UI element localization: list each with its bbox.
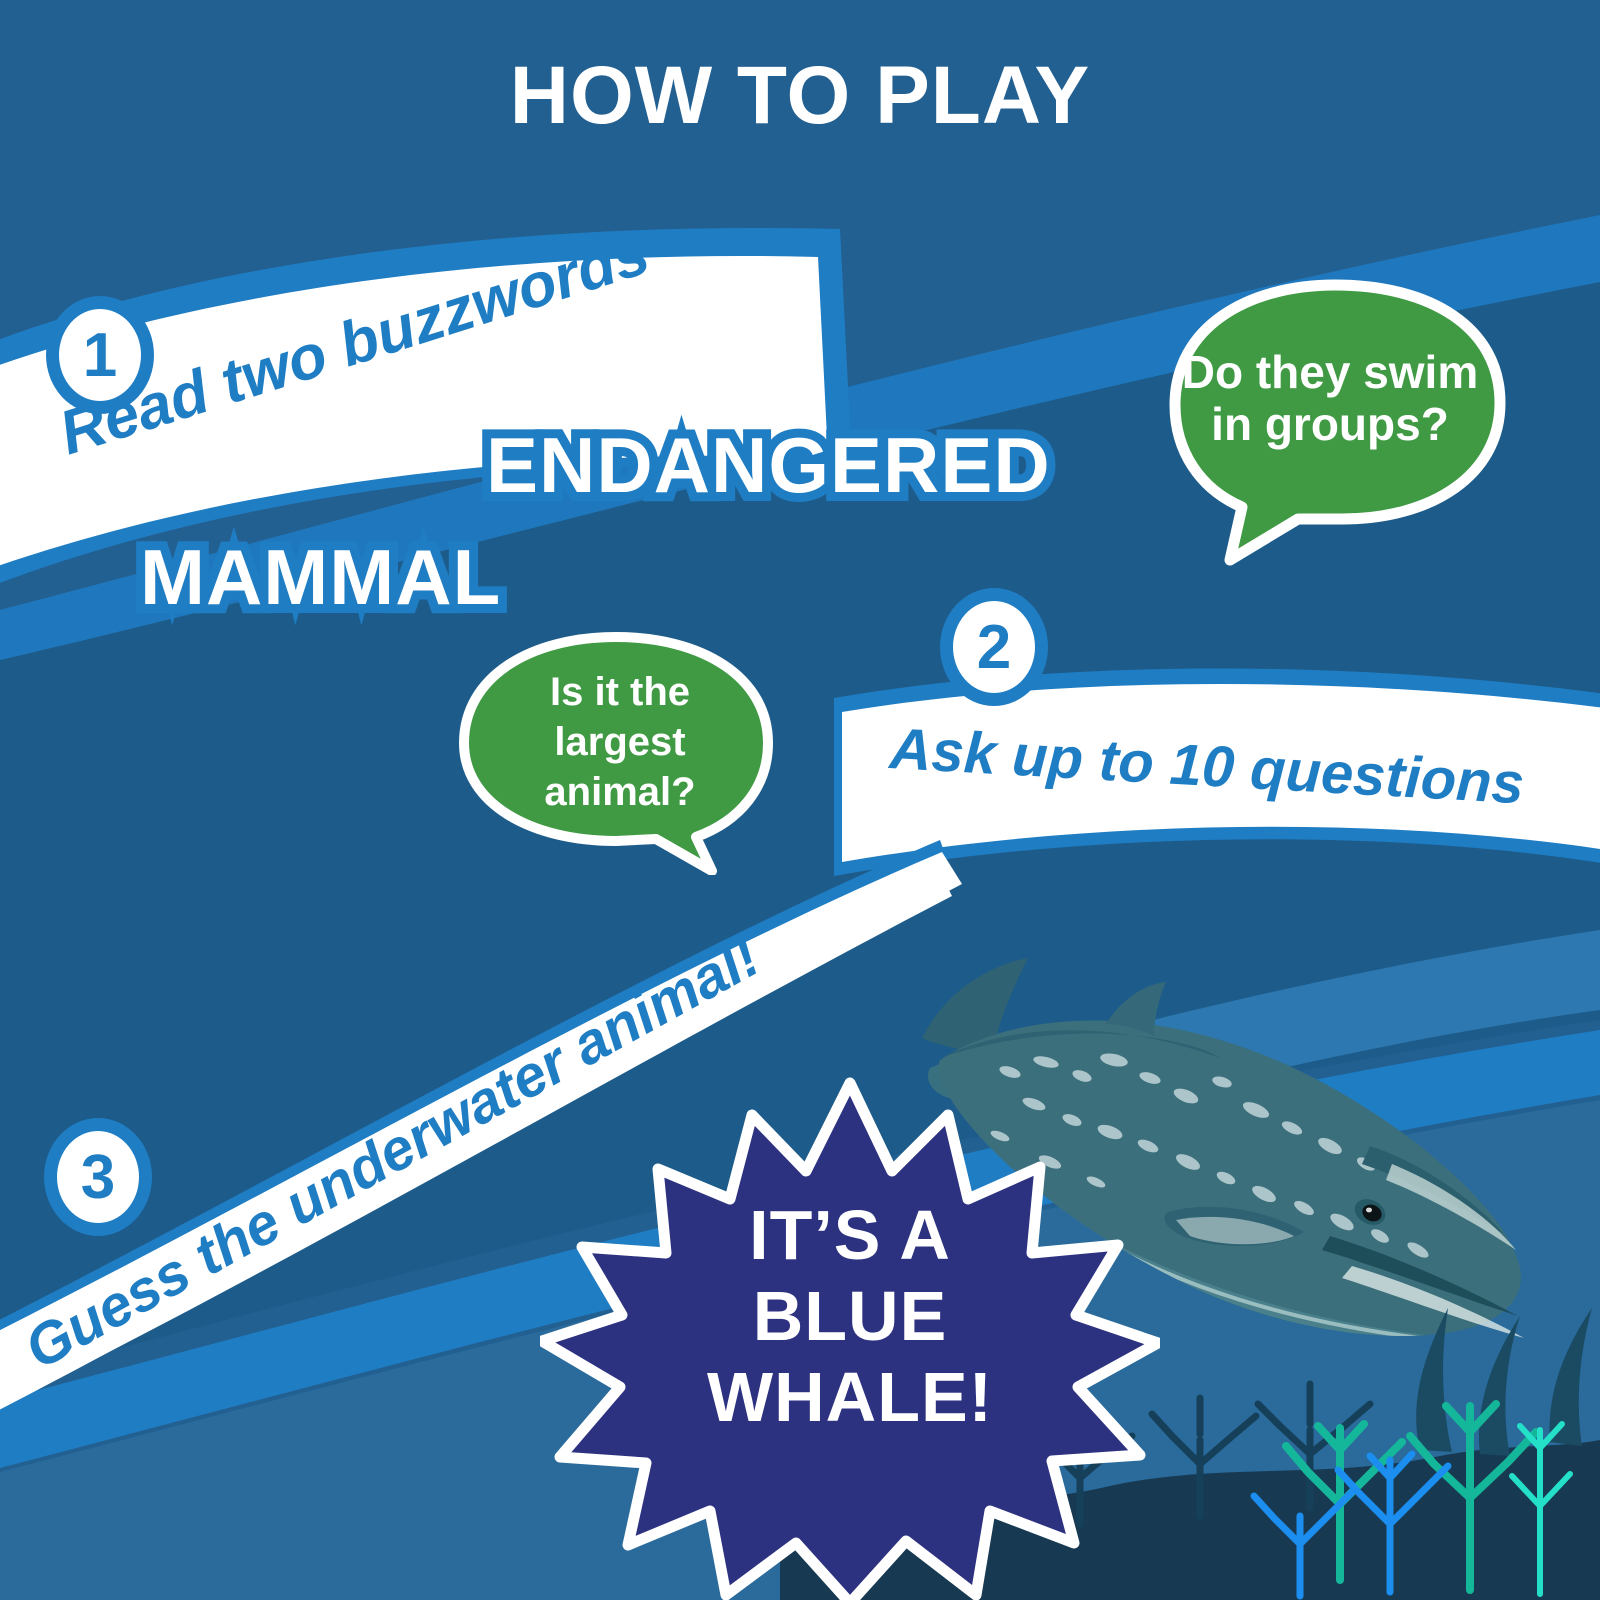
step-2-badge: 2	[940, 588, 1048, 706]
answer-starburst: IT’S A BLUE WHALE!	[540, 1075, 1160, 1600]
buzzword-mammal: MAMMAL	[140, 532, 501, 623]
answer-line-3: WHALE!	[540, 1357, 1160, 1438]
page-title: HOW TO PLAY	[0, 55, 1600, 137]
step-1-number: 1	[83, 320, 117, 391]
bubble-2-line-3: animal?	[544, 770, 695, 814]
bubble-1-line-1: Do they swim	[1182, 346, 1479, 398]
step-2-number: 2	[977, 612, 1011, 683]
bubble-2-line-1: Is it the	[550, 670, 690, 714]
bubble-1-line-2: in groups?	[1211, 398, 1449, 450]
answer-line-2: BLUE	[540, 1276, 1160, 1357]
step-1-badge: 1	[46, 296, 154, 414]
question-bubble-1-text: Do they swim in groups?	[1130, 347, 1530, 450]
question-bubble-2-text: Is it the largest animal?	[450, 667, 790, 817]
step-3-badge: 3	[44, 1118, 152, 1236]
infographic-canvas: HOW TO PLAY 1 Read two buzzwords ENDANGE…	[0, 0, 1600, 1600]
answer-line-1: IT’S A	[540, 1195, 1160, 1276]
question-bubble-1: Do they swim in groups?	[1130, 275, 1530, 575]
bubble-2-line-2: largest	[554, 720, 685, 764]
buzzword-endangered: ENDANGERED	[486, 420, 1051, 511]
step-3-number: 3	[81, 1142, 115, 1213]
answer-text: IT’S A BLUE WHALE!	[540, 1195, 1160, 1439]
question-bubble-2: Is it the largest animal?	[450, 625, 790, 875]
